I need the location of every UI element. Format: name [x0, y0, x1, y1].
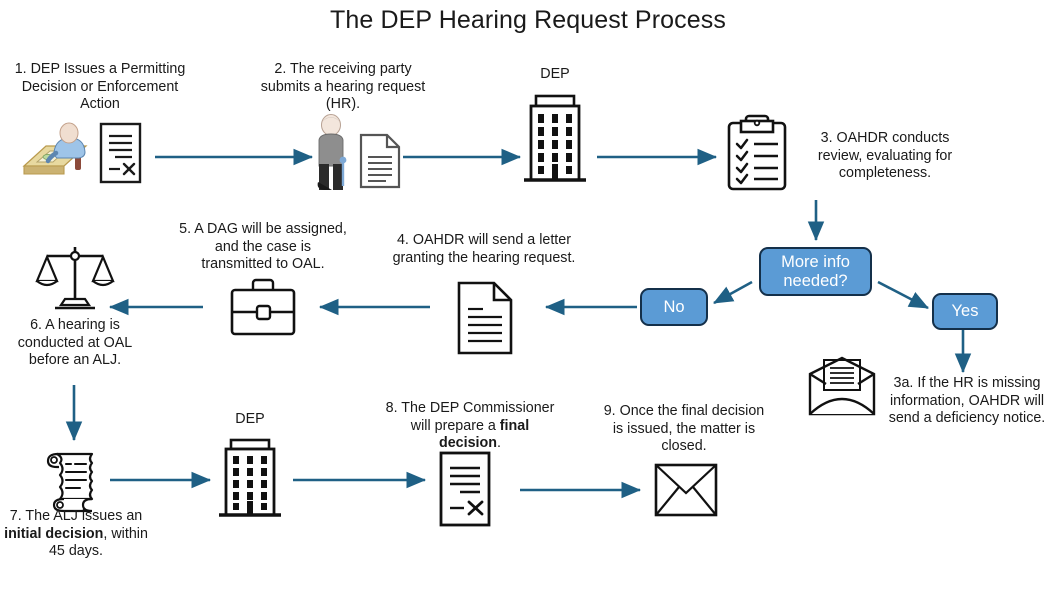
label-dep-top: DEP [505, 66, 605, 82]
decision-no[interactable]: No [640, 288, 708, 326]
dep-building-top-icon [519, 92, 591, 188]
scales-of-justice-icon [35, 243, 115, 311]
caption-step-6: 6. A hearing is conducted at OAL before … [0, 317, 150, 370]
caption-step-3: 3. OAHDR conducts review, evaluating for… [800, 130, 970, 183]
arrow-decision-to-yes [878, 282, 928, 308]
open-envelope-letter-icon [806, 356, 878, 418]
document-hr-icon [359, 133, 401, 189]
label-dep-bottom: DEP [200, 411, 300, 427]
caption-step-7-bold: initial decision [4, 526, 103, 542]
briefcase-icon [228, 278, 298, 336]
standing-person-icon [313, 114, 349, 192]
caption-step-5: 5. A DAG will be assigned, and the case … [178, 221, 348, 274]
person-at-desk-icon [20, 120, 92, 182]
caption-step-3a: 3a. If the HR is missing information, OA… [880, 375, 1054, 428]
caption-step-8-part3: . [497, 435, 501, 451]
dep-building-bottom-icon [214, 437, 286, 523]
caption-step-7: 7. The ALJ issues an initial decision, w… [2, 508, 150, 561]
caption-step-7-part1: 7. The ALJ issues an [10, 508, 142, 524]
closed-envelope-icon [653, 462, 719, 518]
scroll-initial-decision-icon [40, 448, 108, 512]
caption-step-8: 8. The DEP Commissioner will prepare a f… [385, 400, 555, 453]
flowchart-canvas: The DEP Hearing Request Process [0, 0, 1056, 597]
caption-step-2: 2. The receiving party submits a hearing… [259, 61, 427, 114]
caption-step-1: 1. DEP Issues a Permitting Decision or E… [10, 61, 190, 114]
document-x-icon [98, 122, 143, 184]
letter-document-icon [456, 280, 514, 356]
caption-step-4: 4. OAHDR will send a letter granting the… [385, 232, 583, 267]
decision-more-info-needed[interactable]: More info needed? [759, 247, 872, 296]
decision-yes[interactable]: Yes [932, 293, 998, 330]
caption-step-9: 9. Once the final decision is issued, th… [598, 403, 770, 456]
clipboard-checklist-icon [722, 113, 792, 193]
final-decision-document-icon [438, 450, 492, 528]
arrow-decision-to-no [714, 282, 752, 303]
